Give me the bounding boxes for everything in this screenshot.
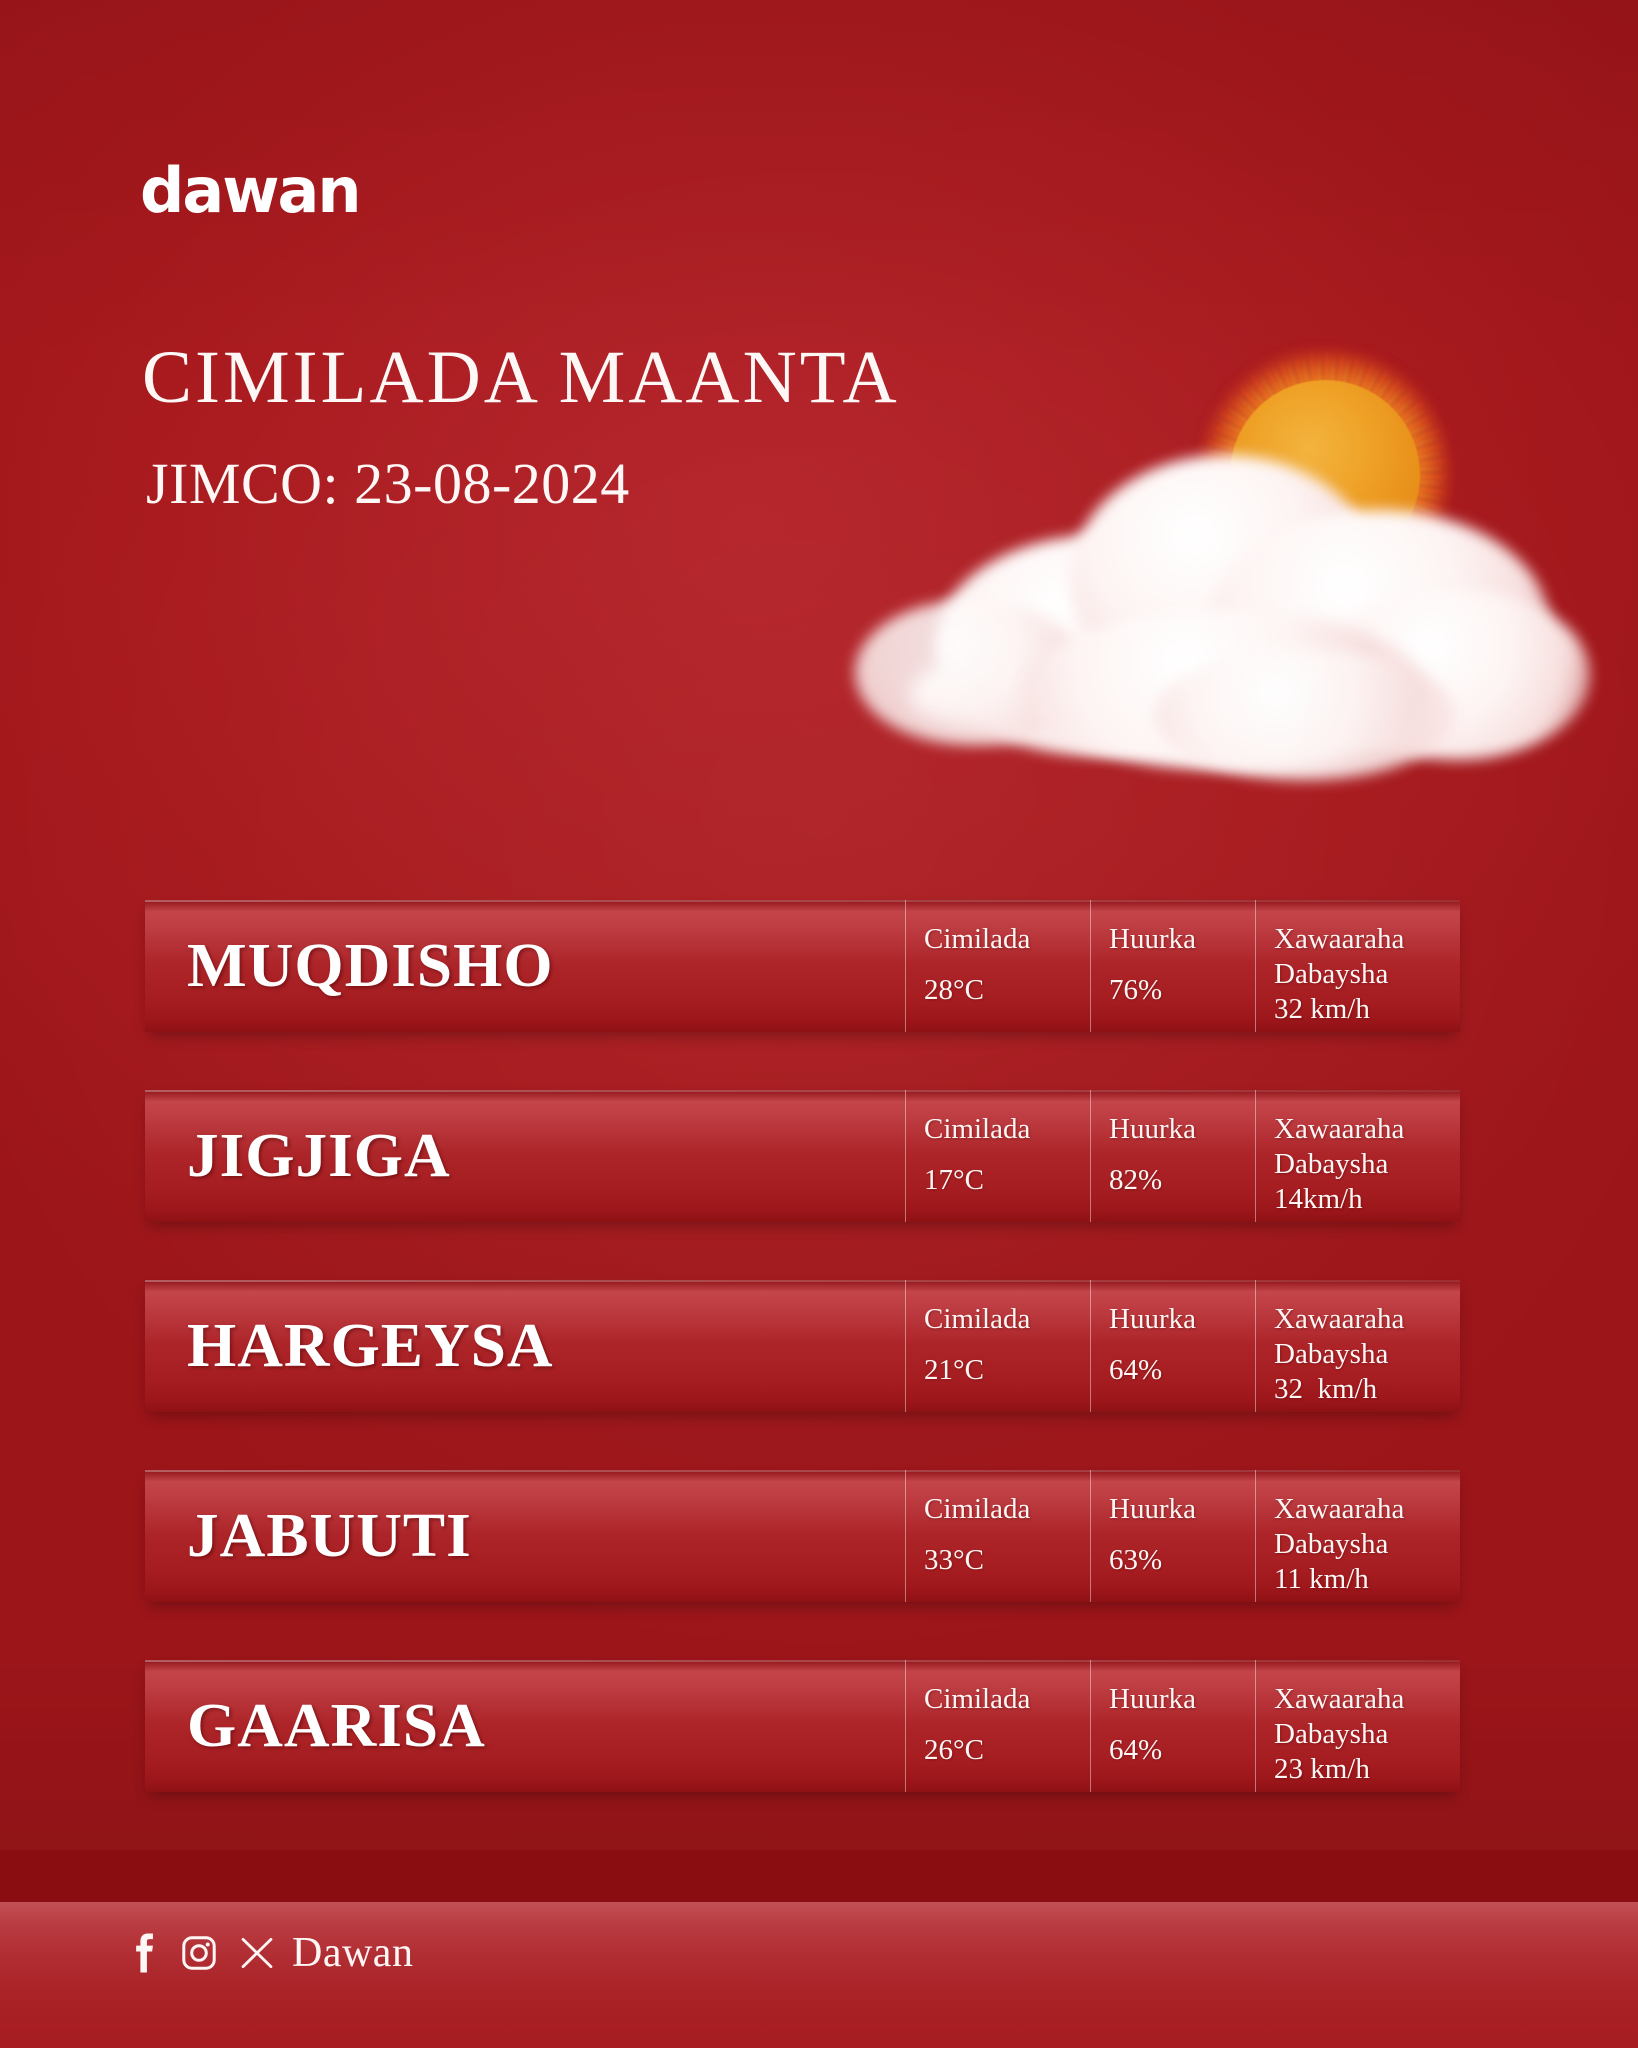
x-twitter-icon[interactable]	[238, 1934, 276, 1972]
city-weather-list: MUQDISHO Cimilada 28°C Huurka 76% Xawaar…	[145, 900, 1460, 1850]
temperature-value: 26°C	[924, 1733, 1090, 1768]
weather-illustration	[855, 305, 1615, 785]
city-name: JIGJIGA	[187, 1125, 451, 1187]
city-name: HARGEYSA	[187, 1315, 554, 1377]
table-row: GAARISA Cimilada 26°C Huurka 64% Xawaara…	[145, 1660, 1460, 1792]
table-row: HARGEYSA Cimilada 21°C Huurka 64% Xawaar…	[145, 1280, 1460, 1412]
temperature-value: 28°C	[924, 973, 1090, 1008]
wind-cell: Xawaaraha Dabaysha 14km/h	[1255, 1090, 1460, 1222]
humidity-cell: Huurka 63%	[1090, 1470, 1255, 1602]
cloud-puff	[1155, 650, 1455, 780]
wind-value: 11 km/h	[1274, 1562, 1446, 1597]
humidity-label: Huurka	[1109, 1682, 1255, 1717]
wind-label-line1: Xawaaraha	[1274, 1302, 1446, 1337]
cloud-icon	[855, 415, 1555, 755]
wind-cell: Xawaaraha Dabaysha 11 km/h	[1255, 1470, 1460, 1602]
wind-value: 23 km/h	[1274, 1752, 1446, 1787]
facebook-icon[interactable]	[128, 1933, 160, 1973]
wind-label-line2: Dabaysha	[1274, 1147, 1446, 1182]
temperature-label: Cimilada	[924, 922, 1090, 957]
city-name-cell: JIGJIGA	[145, 1090, 905, 1222]
humidity-label: Huurka	[1109, 1492, 1255, 1527]
wind-label-line2: Dabaysha	[1274, 1717, 1446, 1752]
temperature-label: Cimilada	[924, 1492, 1090, 1527]
wind-label-line1: Xawaaraha	[1274, 1492, 1446, 1527]
wind-cell: Xawaaraha Dabaysha 23 km/h	[1255, 1660, 1460, 1792]
table-row: MUQDISHO Cimilada 28°C Huurka 76% Xawaar…	[145, 900, 1460, 1032]
humidity-value: 64%	[1109, 1733, 1255, 1768]
wind-cell: Xawaaraha Dabaysha 32 km/h	[1255, 1280, 1460, 1412]
humidity-value: 76%	[1109, 973, 1255, 1008]
social-handle: Dawan	[292, 1932, 413, 1974]
temperature-cell: Cimilada 17°C	[905, 1090, 1090, 1222]
city-name-cell: HARGEYSA	[145, 1280, 905, 1412]
humidity-cell: Huurka 64%	[1090, 1280, 1255, 1412]
wind-label-line1: Xawaaraha	[1274, 1682, 1446, 1717]
humidity-value: 63%	[1109, 1543, 1255, 1578]
wind-value: 32 km/h	[1274, 1372, 1446, 1407]
temperature-cell: Cimilada 28°C	[905, 900, 1090, 1032]
temperature-value: 33°C	[924, 1543, 1090, 1578]
city-name: GAARISA	[187, 1695, 486, 1757]
city-name: JABUUTI	[187, 1505, 472, 1567]
table-row: JABUUTI Cimilada 33°C Huurka 63% Xawaara…	[145, 1470, 1460, 1602]
wind-label-line2: Dabaysha	[1274, 957, 1446, 992]
city-name-cell: GAARISA	[145, 1660, 905, 1792]
humidity-cell: Huurka 76%	[1090, 900, 1255, 1032]
temperature-label: Cimilada	[924, 1682, 1090, 1717]
city-name-cell: JABUUTI	[145, 1470, 905, 1602]
city-name: MUQDISHO	[187, 935, 554, 997]
temperature-value: 17°C	[924, 1163, 1090, 1198]
weather-poster: dawan CIMILADA MAANTA JIMCO: 23-08-2024 …	[0, 0, 1638, 2048]
humidity-label: Huurka	[1109, 922, 1255, 957]
humidity-cell: Huurka 82%	[1090, 1090, 1255, 1222]
date-line: JIMCO: 23-08-2024	[146, 455, 630, 513]
humidity-label: Huurka	[1109, 1302, 1255, 1337]
humidity-value: 82%	[1109, 1163, 1255, 1198]
temperature-label: Cimilada	[924, 1112, 1090, 1147]
wind-value: 32 km/h	[1274, 992, 1446, 1027]
wind-label-line2: Dabaysha	[1274, 1527, 1446, 1562]
temperature-value: 21°C	[924, 1353, 1090, 1388]
humidity-value: 64%	[1109, 1353, 1255, 1388]
temperature-cell: Cimilada 33°C	[905, 1470, 1090, 1602]
footer-divider	[0, 1850, 1638, 1902]
temperature-cell: Cimilada 26°C	[905, 1660, 1090, 1792]
humidity-label: Huurka	[1109, 1112, 1255, 1147]
wind-label-line1: Xawaaraha	[1274, 1112, 1446, 1147]
table-row: JIGJIGA Cimilada 17°C Huurka 82% Xawaara…	[145, 1090, 1460, 1222]
social-links: Dawan	[128, 1932, 413, 1974]
wind-label-line2: Dabaysha	[1274, 1337, 1446, 1372]
humidity-cell: Huurka 64%	[1090, 1660, 1255, 1792]
city-name-cell: MUQDISHO	[145, 900, 905, 1032]
dawan-logo: dawan	[140, 160, 359, 222]
temperature-label: Cimilada	[924, 1302, 1090, 1337]
wind-cell: Xawaaraha Dabaysha 32 km/h	[1255, 900, 1460, 1032]
instagram-icon[interactable]	[180, 1934, 218, 1972]
page-title: CIMILADA MAANTA	[142, 340, 900, 415]
wind-value: 14km/h	[1274, 1182, 1446, 1217]
wind-label-line1: Xawaaraha	[1274, 922, 1446, 957]
footer-bar: Dawan	[0, 1902, 1638, 2048]
temperature-cell: Cimilada 21°C	[905, 1280, 1090, 1412]
